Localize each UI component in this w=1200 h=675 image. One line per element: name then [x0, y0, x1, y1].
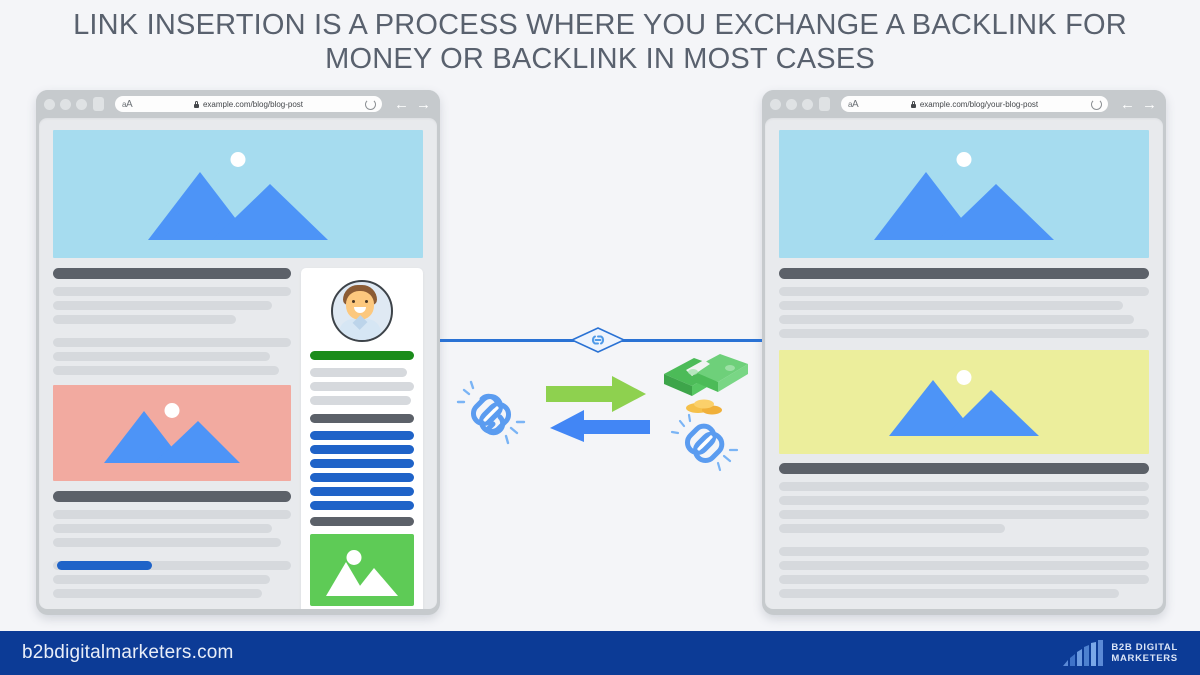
text-line — [779, 315, 1134, 324]
browser-chrome-target: aA example.com/blog/your-blog-post ← → — [762, 90, 1166, 118]
sidebar-link-bar[interactable] — [310, 459, 414, 468]
sidebar-link-bar[interactable] — [310, 473, 414, 482]
browser-window-target[interactable]: aA example.com/blog/your-blog-post ← → — [762, 90, 1166, 615]
window-dot[interactable] — [44, 99, 55, 110]
text-line — [53, 338, 291, 347]
sun-shape — [231, 152, 246, 167]
chain-link-icon — [455, 378, 527, 450]
inserted-backlink-bar[interactable] — [57, 561, 152, 570]
sidebar-link-bar[interactable] — [310, 501, 414, 510]
exchange-arrows-icon — [546, 374, 650, 444]
inline-image-placeholder — [53, 385, 291, 481]
sidebar-cta-bar[interactable] — [310, 351, 414, 360]
mountain-shape — [104, 411, 240, 463]
text-line — [779, 510, 1149, 519]
text-line — [779, 482, 1149, 491]
text-line — [53, 575, 270, 584]
text-line — [779, 329, 1149, 338]
page-content-target — [765, 118, 1163, 609]
article-heading-bar — [779, 268, 1149, 279]
back-icon[interactable]: ← — [1119, 97, 1136, 112]
mountain-shape — [889, 380, 1039, 436]
section-heading-bar — [53, 491, 291, 502]
back-icon[interactable]: ← — [393, 97, 410, 112]
window-dot[interactable] — [770, 99, 781, 110]
hero-image-placeholder — [53, 130, 423, 258]
chain-link-badge-icon — [570, 327, 626, 353]
browser-window-source[interactable]: aA example.com/blog/blog-post ← → — [36, 90, 440, 615]
sun-shape — [957, 152, 972, 167]
text-line — [310, 368, 407, 377]
brand-line-2: MARKETERS — [1111, 653, 1178, 664]
text-line — [779, 561, 1149, 570]
footer-website-url[interactable]: b2bdigitalmarketers.com — [22, 642, 234, 664]
window-dot[interactable] — [60, 99, 71, 110]
page-title: LINK INSERTION IS A PROCESS WHERE YOU EX… — [0, 8, 1200, 76]
text-line — [779, 287, 1149, 296]
mountain-shape — [326, 560, 398, 596]
money-stack-icon — [660, 352, 752, 410]
text-line — [53, 524, 272, 533]
text-line — [779, 301, 1123, 310]
avatar-eye — [365, 300, 368, 303]
text-line — [779, 547, 1149, 556]
reload-icon[interactable] — [1091, 99, 1102, 110]
brand-logo[interactable]: B2B DIGITAL MARKETERS — [1063, 640, 1178, 666]
text-line — [310, 382, 414, 391]
url-display-source: example.com/blog/blog-post — [115, 100, 382, 109]
mountain-shape — [874, 172, 1054, 240]
forward-icon[interactable]: → — [1141, 97, 1158, 112]
brand-line-1: B2B DIGITAL — [1111, 642, 1178, 653]
sidebar-heading-bar — [310, 517, 414, 526]
tab-rect[interactable] — [819, 97, 830, 111]
page-content-source — [39, 118, 437, 609]
window-dot[interactable] — [786, 99, 797, 110]
brand-name: B2B DIGITAL MARKETERS — [1111, 642, 1178, 664]
text-line — [53, 366, 279, 375]
sidebar-link-bar[interactable] — [310, 431, 414, 440]
page-viewport-target[interactable] — [765, 118, 1163, 609]
text-line — [779, 524, 1005, 533]
url-text-target: example.com/blog/your-blog-post — [920, 100, 1038, 109]
sidebar-card-source[interactable] — [301, 268, 423, 609]
lock-icon — [194, 101, 199, 108]
footer-bar: b2bdigitalmarketers.com B2B DIGITAL MARK… — [0, 631, 1200, 675]
sidebar-link-bar[interactable] — [310, 487, 414, 496]
sidebar-link-bar[interactable] — [310, 445, 414, 454]
address-bar-target[interactable]: aA example.com/blog/your-blog-post — [841, 96, 1108, 112]
inline-image-placeholder — [779, 350, 1149, 454]
text-line — [53, 510, 291, 519]
url-display-target: example.com/blog/your-blog-post — [841, 100, 1108, 109]
text-line — [53, 352, 270, 361]
window-dot[interactable] — [802, 99, 813, 110]
article-column-source — [53, 268, 291, 609]
sidebar-image-placeholder — [310, 534, 414, 606]
content-columns-source — [53, 268, 423, 609]
text-line — [310, 396, 411, 405]
tab-rect[interactable] — [93, 97, 104, 111]
lock-icon — [911, 101, 916, 108]
forward-icon[interactable]: → — [415, 97, 432, 112]
text-line — [779, 496, 1149, 505]
sidebar-heading-bar — [310, 414, 414, 423]
text-line — [53, 315, 236, 324]
page-viewport-source[interactable] — [39, 118, 437, 609]
address-bar-source[interactable]: aA example.com/blog/blog-post — [115, 96, 382, 112]
bar-chart-logo-icon — [1063, 640, 1103, 666]
text-line — [53, 538, 281, 547]
text-line — [53, 287, 291, 296]
text-line — [53, 301, 272, 310]
browser-chrome-source: aA example.com/blog/blog-post ← → — [36, 90, 440, 118]
chain-link-icon — [668, 412, 742, 476]
text-line — [53, 589, 262, 598]
text-line — [779, 589, 1119, 598]
avatar — [331, 280, 393, 342]
avatar-eye — [352, 300, 355, 303]
mountain-shape — [148, 172, 328, 240]
section-heading-bar — [779, 463, 1149, 474]
article-heading-bar — [53, 268, 291, 279]
window-dot[interactable] — [76, 99, 87, 110]
hero-image-placeholder — [779, 130, 1149, 258]
text-line — [779, 575, 1149, 584]
reload-icon[interactable] — [365, 99, 376, 110]
url-text-source: example.com/blog/blog-post — [203, 100, 303, 109]
